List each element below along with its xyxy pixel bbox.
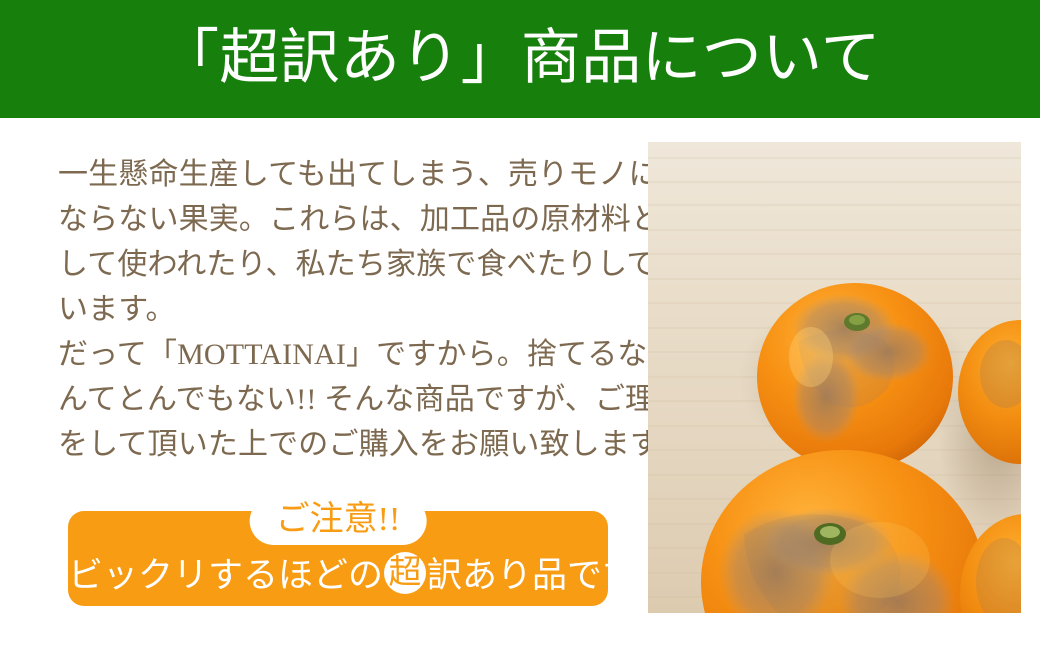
body-line: んてとんでもない!! そんな商品ですが、ご理解 (58, 377, 628, 422)
product-photo-image (648, 142, 1021, 613)
body-line: ならない果実。これらは、加工品の原材料と (58, 197, 628, 242)
attention-message-suffix: 訳あり品です!! (427, 556, 660, 595)
header-banner: 「超訳あり」商品について (0, 0, 1040, 118)
body-copy: 一生懸命生産しても出てしまう、売りモノに ならない果実。これらは、加工品の原材料… (58, 152, 628, 467)
body-line: います。 (58, 287, 628, 332)
product-photo (648, 142, 1021, 613)
body-line: して使われたり、私たち家族で食べたりして (58, 242, 628, 287)
promo-page: 「超訳あり」商品について 一生懸命生産しても出てしまう、売りモノに ならない果実… (0, 0, 1040, 646)
attention-badge-label: ご注意!! (276, 499, 401, 541)
body-line: だって「MOTTAINAI」ですから。捨てるな (58, 332, 628, 377)
attention-message: ビックリするほどの超訳あり品です!! (68, 549, 608, 600)
body-line: をして頂いた上でのご購入をお願い致します。 (58, 422, 628, 467)
attention-badge: ご注意!! (250, 497, 427, 545)
attention-callout: ご注意!! ビックリするほどの超訳あり品です!! (68, 511, 608, 606)
attention-message-prefix: ビックリするほどの (68, 556, 383, 595)
emphasis-kanji-badge: 超 (384, 552, 426, 594)
page-title: 「超訳あり」商品について (159, 28, 881, 88)
body-line: 一生懸命生産しても出てしまう、売りモノに (58, 152, 628, 197)
